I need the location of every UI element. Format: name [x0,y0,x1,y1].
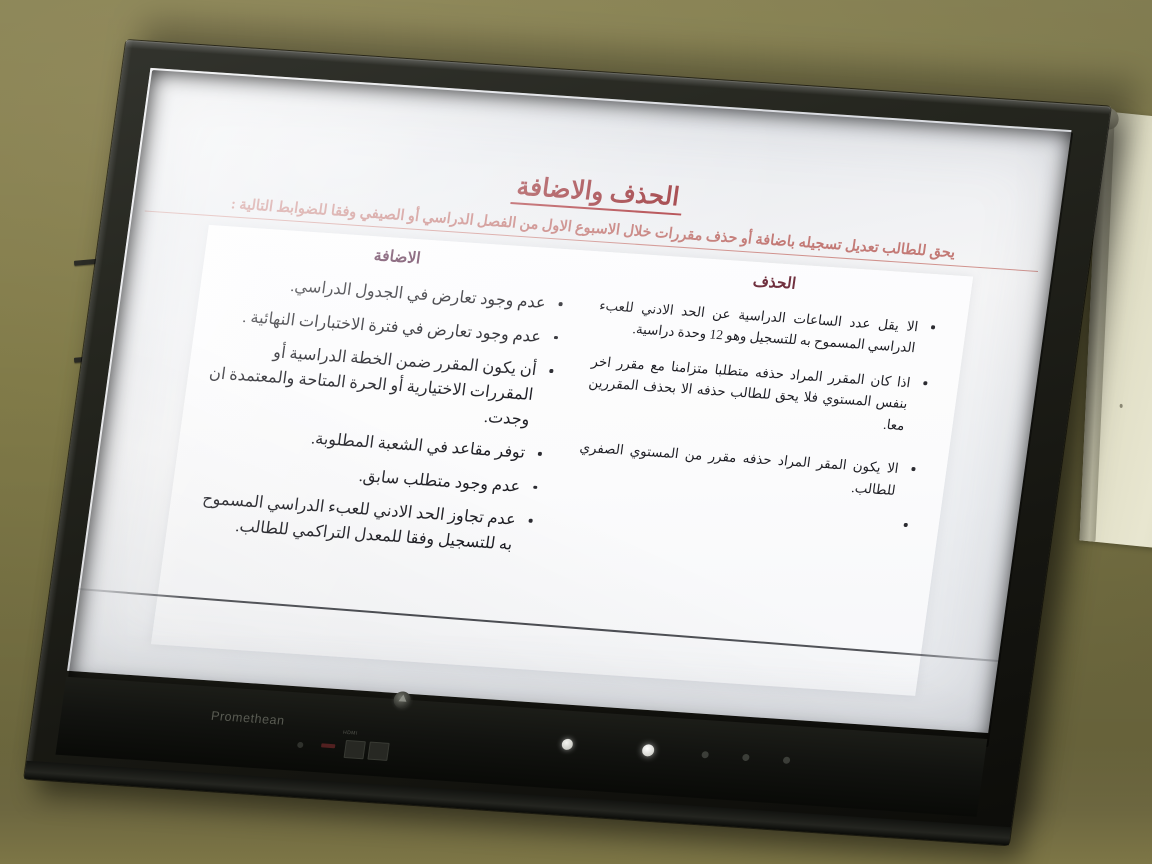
side-ports-group: HDMI [285,732,408,766]
usb-port-2[interactable] [367,742,389,761]
promethean-display-panel: الحذف والاضافة يحق للطالب تعديل تسجيله ب… [0,0,1152,864]
home-button-icon[interactable] [641,744,655,757]
usb-port-1[interactable] [344,740,366,759]
sensor-1-icon [701,751,709,758]
classroom-scene: الحذف والاضافة يحق للطالب تعديل تسجيله ب… [0,0,1152,864]
sensor-2-icon [742,754,750,761]
port-indicator-icon [297,742,304,748]
power-button-icon[interactable] [561,739,573,751]
bezel-inner-shadow [67,70,1073,747]
status-led-icon [321,743,335,748]
display-bezel: الحذف والاضافة يحق للطالب تعديل تسجيله ب… [24,40,1111,845]
brand-label: Promethean [210,709,285,728]
sensor-3-icon [783,756,791,763]
promethean-logo-icon [393,691,412,709]
ports-label: HDMI [343,730,358,737]
